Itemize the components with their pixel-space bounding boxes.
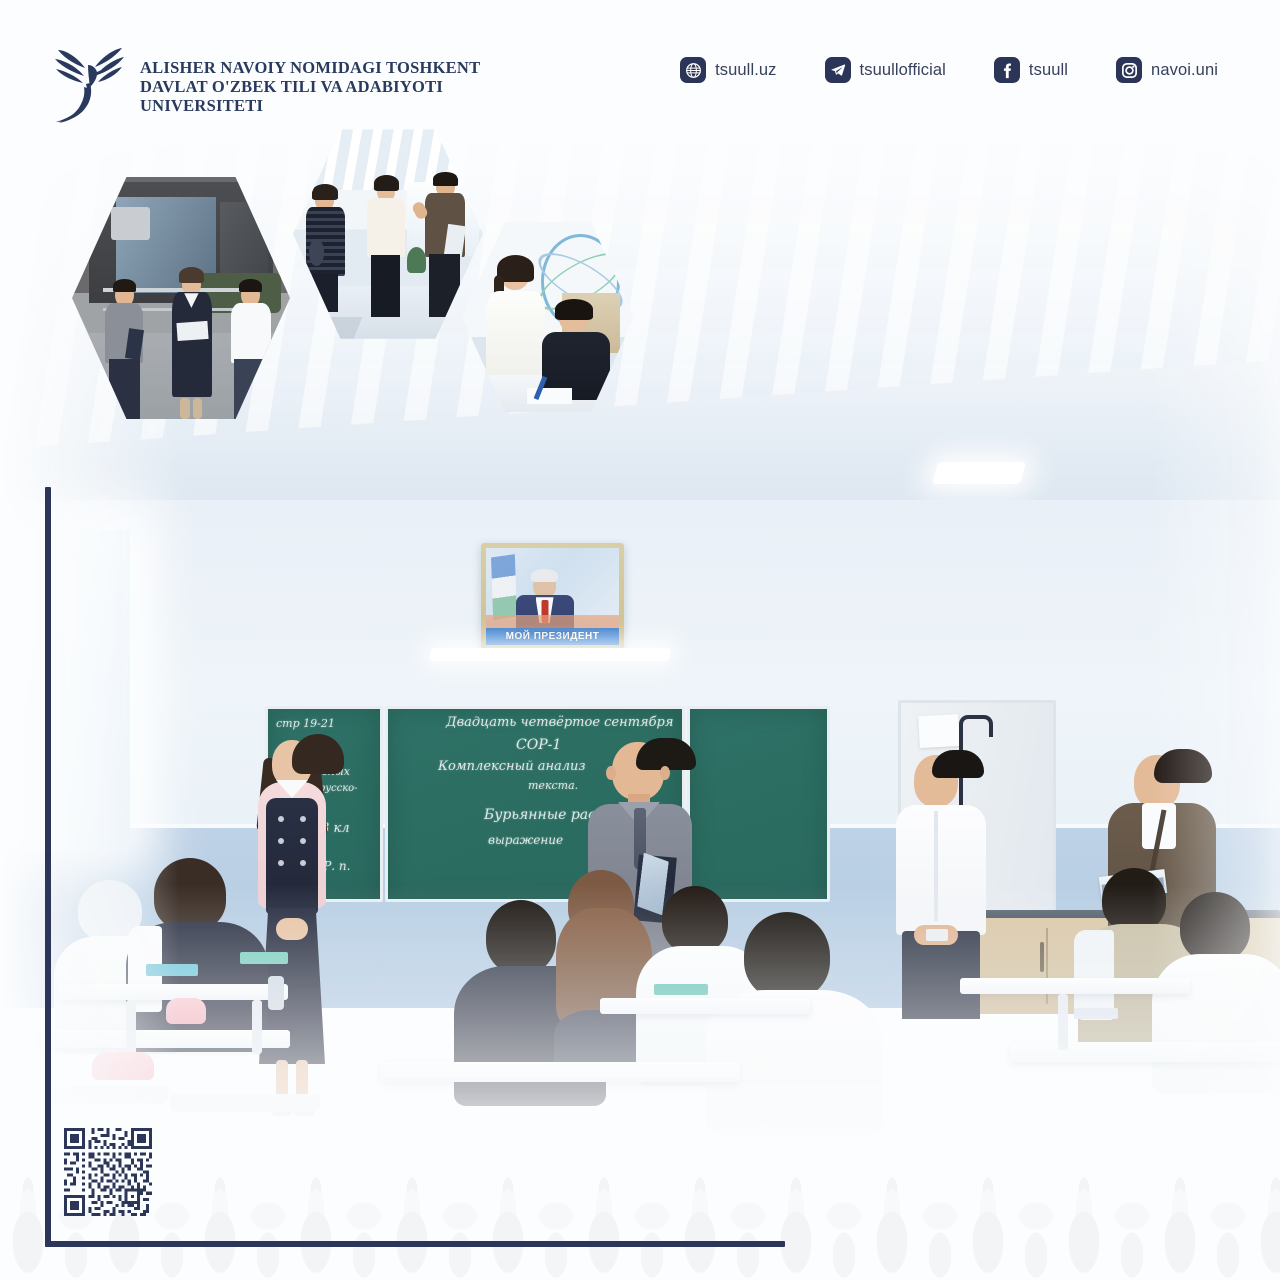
decor-horizontal-rule bbox=[45, 1241, 785, 1247]
facebook-icon bbox=[994, 57, 1020, 83]
social-label-telegram: tsuullofficial bbox=[860, 61, 946, 80]
ceiling-light bbox=[932, 462, 1026, 484]
telegram-icon bbox=[825, 57, 851, 83]
university-name-line-3: UNIVERSITETI bbox=[140, 96, 480, 115]
university-name-line-2: DAVLAT O'ZBEK TILI VA ADABIYOTI bbox=[140, 77, 480, 96]
chair bbox=[170, 1094, 320, 1112]
globe-icon bbox=[680, 57, 706, 83]
social-label-instagram: navoi.uni bbox=[1151, 61, 1218, 80]
notebook bbox=[146, 964, 198, 976]
poster-header: ALISHER NAVOIY NOMIDAGI TOSHKENT DAVLAT … bbox=[0, 0, 1280, 118]
social-label-facebook: tsuull bbox=[1029, 61, 1068, 80]
instagram-icon bbox=[1116, 57, 1142, 83]
chalk-line: текста. bbox=[528, 779, 578, 792]
portrait-caption: МОЙ ПРЕЗИДЕНТ bbox=[486, 628, 619, 645]
ornamental-watermark-band bbox=[0, 1150, 1280, 1280]
chalk-line: СОР-1 bbox=[516, 737, 561, 753]
student-desk bbox=[380, 1062, 740, 1082]
student-desk bbox=[600, 998, 810, 1014]
notebook bbox=[1074, 1008, 1118, 1019]
official-standing-right bbox=[892, 755, 990, 1011]
chair bbox=[48, 1086, 168, 1104]
student-desk bbox=[960, 978, 1190, 994]
crane-bird-logo-icon bbox=[52, 38, 126, 124]
social-links: tsuull.uz tsuullofficial tsuull bbox=[680, 57, 1218, 83]
poster-canvas: МОЙ ПРЕЗИДЕНТ стр 19-21 “Тетрадь контрол… bbox=[0, 0, 1280, 1280]
university-name-line-1: ALISHER NAVOIY NOMIDAGI TOSHKENT bbox=[140, 58, 480, 77]
chalk-line: стр 19-21 bbox=[276, 717, 335, 730]
student-desk bbox=[1010, 1042, 1280, 1062]
classroom-window bbox=[0, 530, 130, 850]
pencil-case bbox=[166, 998, 206, 1024]
notebook bbox=[654, 984, 708, 995]
social-link-website[interactable]: tsuull.uz bbox=[680, 57, 776, 83]
pencil-case bbox=[92, 1052, 154, 1080]
notebook bbox=[240, 952, 288, 964]
qr-code-icon bbox=[64, 1128, 152, 1216]
brand-lockup: ALISHER NAVOIY NOMIDAGI TOSHKENT DAVLAT … bbox=[52, 38, 480, 124]
framed-president-portrait: МОЙ ПРЕЗИДЕНТ bbox=[481, 543, 624, 650]
decor-vertical-rule bbox=[45, 487, 51, 1247]
university-name: ALISHER NAVOIY NOMIDAGI TOSHKENT DAVLAT … bbox=[140, 38, 480, 115]
chalk-line: выражение bbox=[488, 833, 563, 847]
social-link-facebook[interactable]: tsuull bbox=[994, 57, 1068, 83]
social-link-instagram[interactable]: navoi.uni bbox=[1116, 57, 1218, 83]
chalk-line: Двадцать четвёртое сентября bbox=[446, 715, 674, 730]
seated-student bbox=[716, 912, 866, 1132]
student-desk bbox=[58, 984, 288, 1000]
chalk-line: Комплексный анализ bbox=[438, 759, 586, 774]
ceiling-light bbox=[429, 648, 671, 661]
social-link-telegram[interactable]: tsuullofficial bbox=[825, 57, 946, 83]
social-label-website: tsuull.uz bbox=[715, 61, 776, 80]
qr-code[interactable] bbox=[64, 1128, 152, 1216]
water-bottle bbox=[268, 976, 284, 1010]
